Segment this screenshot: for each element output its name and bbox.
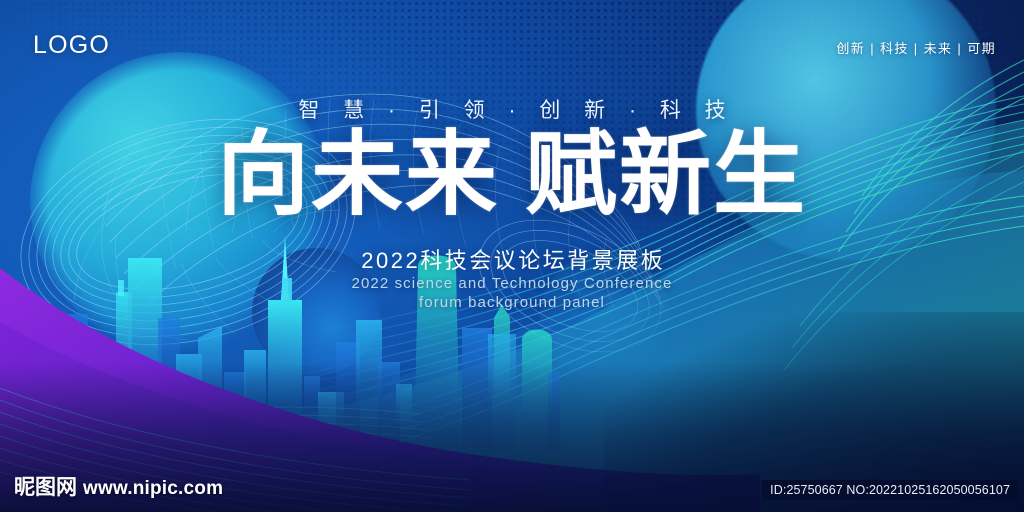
subtitle-english-line-1: 2022 science and Technology Conference bbox=[0, 274, 1024, 293]
watermark-left: 昵图网 www.nipic.com bbox=[14, 471, 223, 501]
subtitle-english-line-2: forum background panel bbox=[0, 293, 1024, 312]
watermark-site-name: 昵图网 bbox=[14, 471, 77, 501]
headline-part-left: 向未来 bbox=[217, 121, 499, 228]
conference-poster: LOGO 创新 | 科技 | 未来 | 可期 智 慧 · 引 领 · 创 新 ·… bbox=[0, 0, 1024, 512]
top-right-tagline: 创新 | 科技 | 未来 | 可期 bbox=[836, 38, 996, 57]
subtitle-chinese: 2022科技会议论坛背景展板 bbox=[0, 243, 1024, 275]
headline-part-right: 赋新生 bbox=[525, 121, 807, 228]
logo-text: LOGO bbox=[33, 31, 110, 60]
watermark-id-text: ID:25750667 NO:20221025162050056107 bbox=[762, 480, 1018, 500]
headline: 向未来赋新生 bbox=[0, 129, 1024, 221]
subtitle-english: 2022 science and Technology Conference f… bbox=[0, 274, 1024, 312]
watermark-site-url: www.nipic.com bbox=[83, 478, 223, 500]
kicker-text: 智 慧 · 引 领 · 创 新 · 科 技 bbox=[0, 94, 1024, 124]
